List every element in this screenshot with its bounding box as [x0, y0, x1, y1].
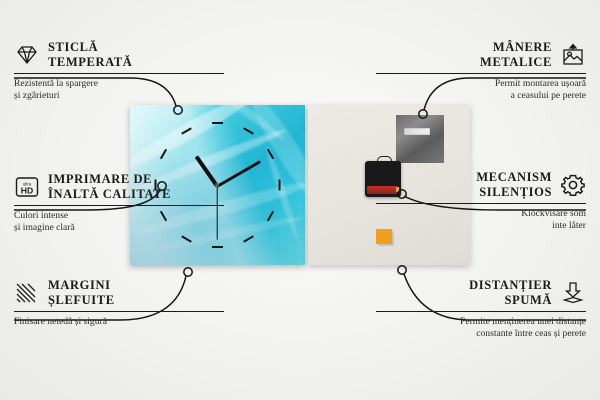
callout-subtitle-line2: a ceasului pe perete: [511, 90, 586, 101]
callout-silent-mechanism: MECANISM SILENȚIOS Klockvisare som inte …: [376, 170, 586, 233]
callout-subtitle-line2: și imagine clară: [14, 222, 75, 233]
callout-subtitle-line1: Finisare netedă și sigură: [14, 316, 107, 327]
press-down-pad-icon: [560, 281, 586, 305]
callout-divider: [14, 311, 224, 312]
callout-subtitle-line1: Culori intense: [14, 210, 68, 221]
callout-divider: [376, 73, 586, 74]
callout-header: STICLĂ TEMPERATĂ: [14, 40, 224, 70]
ultra-hd-icon: ultra HD: [14, 175, 40, 199]
hatched-edge-icon: [14, 281, 40, 305]
movement-bail: [377, 156, 392, 165]
callout-subtitle: Permite menținerea unei distanțe constan…: [376, 316, 586, 341]
callout-subtitle-line2: și zgârieturi: [14, 90, 60, 101]
callout-header: ultra HD IMPRIMARE DE ÎNALTĂ CALITATE: [14, 172, 224, 202]
svg-text:HD: HD: [21, 185, 33, 195]
callout-subtitle: Rezistentă la spargere și zgârieturi: [14, 78, 224, 103]
hanging-picture-icon: [560, 43, 586, 67]
callout-divider: [376, 203, 586, 204]
diamond-icon: [14, 43, 40, 67]
callout-subtitle-line1: Klockvisare som: [521, 208, 586, 219]
callout-title: MARGINI ȘLEFUITE: [48, 278, 115, 308]
callout-title-line1: MARGINI: [48, 278, 111, 292]
product-infographic: STICLĂ TEMPERATĂ Rezistentă la spargere …: [0, 0, 600, 400]
callout-subtitle: Permit montarea ușoară a ceasului pe per…: [376, 78, 586, 103]
callout-subtitle: Culori intense și imagine clară: [14, 210, 224, 235]
callout-foam-spacer: DISTANȚIER SPUMĂ Permite menținerea unei…: [376, 278, 586, 341]
clock-tick: [212, 246, 223, 248]
callout-header: MÂNERE METALICE: [376, 40, 586, 70]
callout-header: MECANISM SILENȚIOS: [376, 170, 586, 200]
callout-subtitle: Klockvisare som inte låter: [376, 208, 586, 233]
callout-subtitle-line1: Permit montarea ușoară: [495, 78, 586, 89]
callout-title-line2: ÎNALTĂ CALITATE: [48, 187, 171, 201]
hanger-slot: [404, 128, 430, 135]
callout-title-line1: STICLĂ: [48, 40, 98, 54]
callout-title-line2: TEMPERATĂ: [48, 55, 132, 69]
clock-tick: [278, 180, 280, 191]
callout-title-line2: SPUMĂ: [505, 293, 552, 307]
callout-header: DISTANȚIER SPUMĂ: [376, 278, 586, 308]
clock-tick: [212, 122, 223, 124]
callout-title-line1: IMPRIMARE DE: [48, 172, 152, 186]
callout-title: MECANISM SILENȚIOS: [476, 170, 552, 200]
callout-divider: [376, 311, 586, 312]
callout-subtitle-line2: constante între ceas și perete: [476, 328, 586, 339]
metal-hanger-plate: [396, 115, 444, 163]
callout-title: IMPRIMARE DE ÎNALTĂ CALITATE: [48, 172, 171, 202]
callout-subtitle-line2: inte låter: [552, 220, 586, 231]
callout-title-line1: DISTANȚIER: [469, 278, 552, 292]
callout-title: DISTANȚIER SPUMĂ: [469, 278, 552, 308]
callout-title-line2: METALICE: [480, 55, 552, 69]
callout-polished-edges: MARGINI ȘLEFUITE Finisare netedă și sigu…: [14, 278, 224, 328]
callout-metal-handles: MÂNERE METALICE Permit montarea ușoară a…: [376, 40, 586, 103]
callout-title-line1: MECANISM: [476, 170, 552, 184]
callout-subtitle-line1: Rezistentă la spargere: [14, 78, 98, 89]
callout-title-line2: SILENȚIOS: [479, 185, 552, 199]
callout-divider: [14, 205, 224, 206]
callout-subtitle: Finisare netedă și sigură: [14, 316, 224, 328]
callout-header: MARGINI ȘLEFUITE: [14, 278, 224, 308]
callout-title-line1: MÂNERE: [493, 40, 552, 54]
callout-title-line2: ȘLEFUITE: [48, 293, 115, 307]
callout-divider: [14, 73, 224, 74]
callout-title: MÂNERE METALICE: [480, 40, 552, 70]
callout-high-quality-print: ultra HD IMPRIMARE DE ÎNALTĂ CALITATE Cu…: [14, 172, 224, 235]
callout-subtitle-line1: Permite menținerea unei distanțe: [460, 316, 586, 327]
callout-title: STICLĂ TEMPERATĂ: [48, 40, 132, 70]
callout-tempered-glass: STICLĂ TEMPERATĂ Rezistentă la spargere …: [14, 40, 224, 103]
gear-icon: [560, 173, 586, 197]
